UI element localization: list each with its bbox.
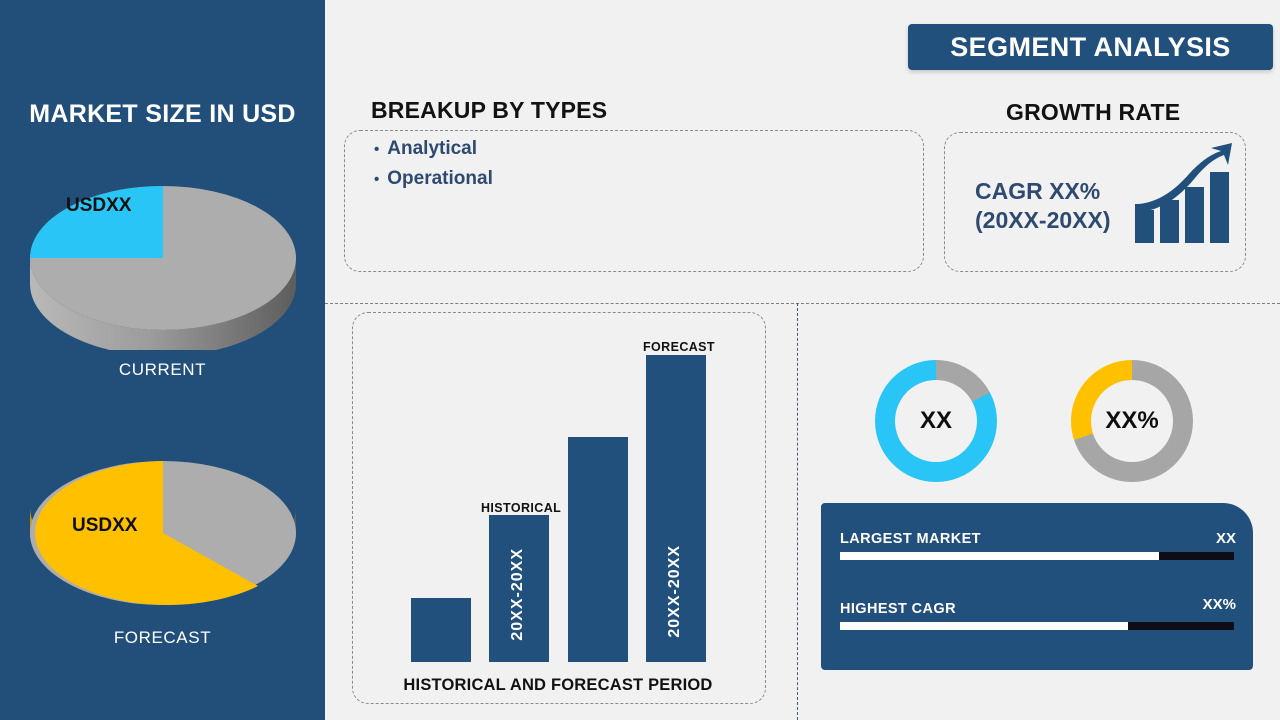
breakup-heading: BREAKUP BY TYPES xyxy=(371,97,607,124)
growth-arrow-bars-icon xyxy=(1133,142,1235,252)
kpi-fill-largest-market xyxy=(840,552,1159,560)
donut-1-value: XX xyxy=(920,407,952,435)
bar-4: 20XX-20XX xyxy=(646,355,706,662)
bar-2-period-label: 20XX-20XX xyxy=(509,548,527,641)
bar-2: 20XX-20XX xyxy=(489,515,549,662)
bar-3 xyxy=(568,437,628,662)
sidebar-title: MARKET SIZE IN USD xyxy=(0,100,325,129)
breakup-item-label: Analytical xyxy=(387,138,477,160)
donut-2-hole: XX% xyxy=(1091,380,1173,462)
kpi-track-largest-market xyxy=(840,552,1234,560)
donut-2-value: XX% xyxy=(1105,407,1158,435)
donut-1-hole: XX xyxy=(895,380,977,462)
pie-current-caption: CURRENT xyxy=(0,360,325,380)
bar-1 xyxy=(411,598,471,662)
growth-heading: GROWTH RATE xyxy=(1006,99,1180,126)
vertical-divider xyxy=(797,303,798,720)
pie-current-svg xyxy=(0,160,325,350)
header-band: SEGMENT ANALYSIS imarc IMPACTFUL INSIGHT… xyxy=(325,0,1280,92)
kpi-panel: LARGEST MARKET XX HIGHEST CAGR XX% xyxy=(821,503,1253,670)
kpi-value-highest-cagr: XX% xyxy=(1203,596,1236,613)
cagr-text: CAGR XX% (20XX-20XX) xyxy=(975,177,1111,236)
chart-caption: HISTORICAL AND FORECAST PERIOD xyxy=(352,676,764,695)
bullet-icon: • xyxy=(374,142,379,157)
bar-4-period-label: 20XX-20XX xyxy=(666,545,684,638)
historical-annotation: HISTORICAL xyxy=(481,501,561,515)
page-title: SEGMENT ANALYSIS xyxy=(908,24,1273,70)
pie-chart-current: USDXX xyxy=(0,160,325,350)
pie-chart-forecast: USDXX xyxy=(0,435,325,625)
bullet-icon: • xyxy=(374,172,379,187)
breakup-list: • Analytical • Operational xyxy=(374,138,493,198)
list-item: • Analytical xyxy=(374,138,493,160)
page-title-text: SEGMENT ANALYSIS xyxy=(950,32,1230,63)
horizontal-divider xyxy=(325,303,1280,304)
kpi-track-highest-cagr xyxy=(840,622,1234,630)
kpi-label-highest-cagr: HIGHEST CAGR xyxy=(840,601,956,617)
kpi-fill-highest-cagr xyxy=(840,622,1128,630)
breakup-item-label: Operational xyxy=(387,168,493,190)
kpi-label-largest-market: LARGEST MARKET xyxy=(840,531,981,547)
infographic-root: MARKET SIZE IN USD USDXX CU xyxy=(0,0,1280,720)
kpi-value-largest-market: XX xyxy=(1216,530,1236,547)
pie-forecast-caption: FORECAST xyxy=(0,628,325,648)
forecast-annotation: FORECAST xyxy=(643,340,715,354)
market-size-sidebar: MARKET SIZE IN USD USDXX CU xyxy=(0,0,325,720)
list-item: • Operational xyxy=(374,168,493,190)
pie-forecast-svg xyxy=(0,435,325,625)
